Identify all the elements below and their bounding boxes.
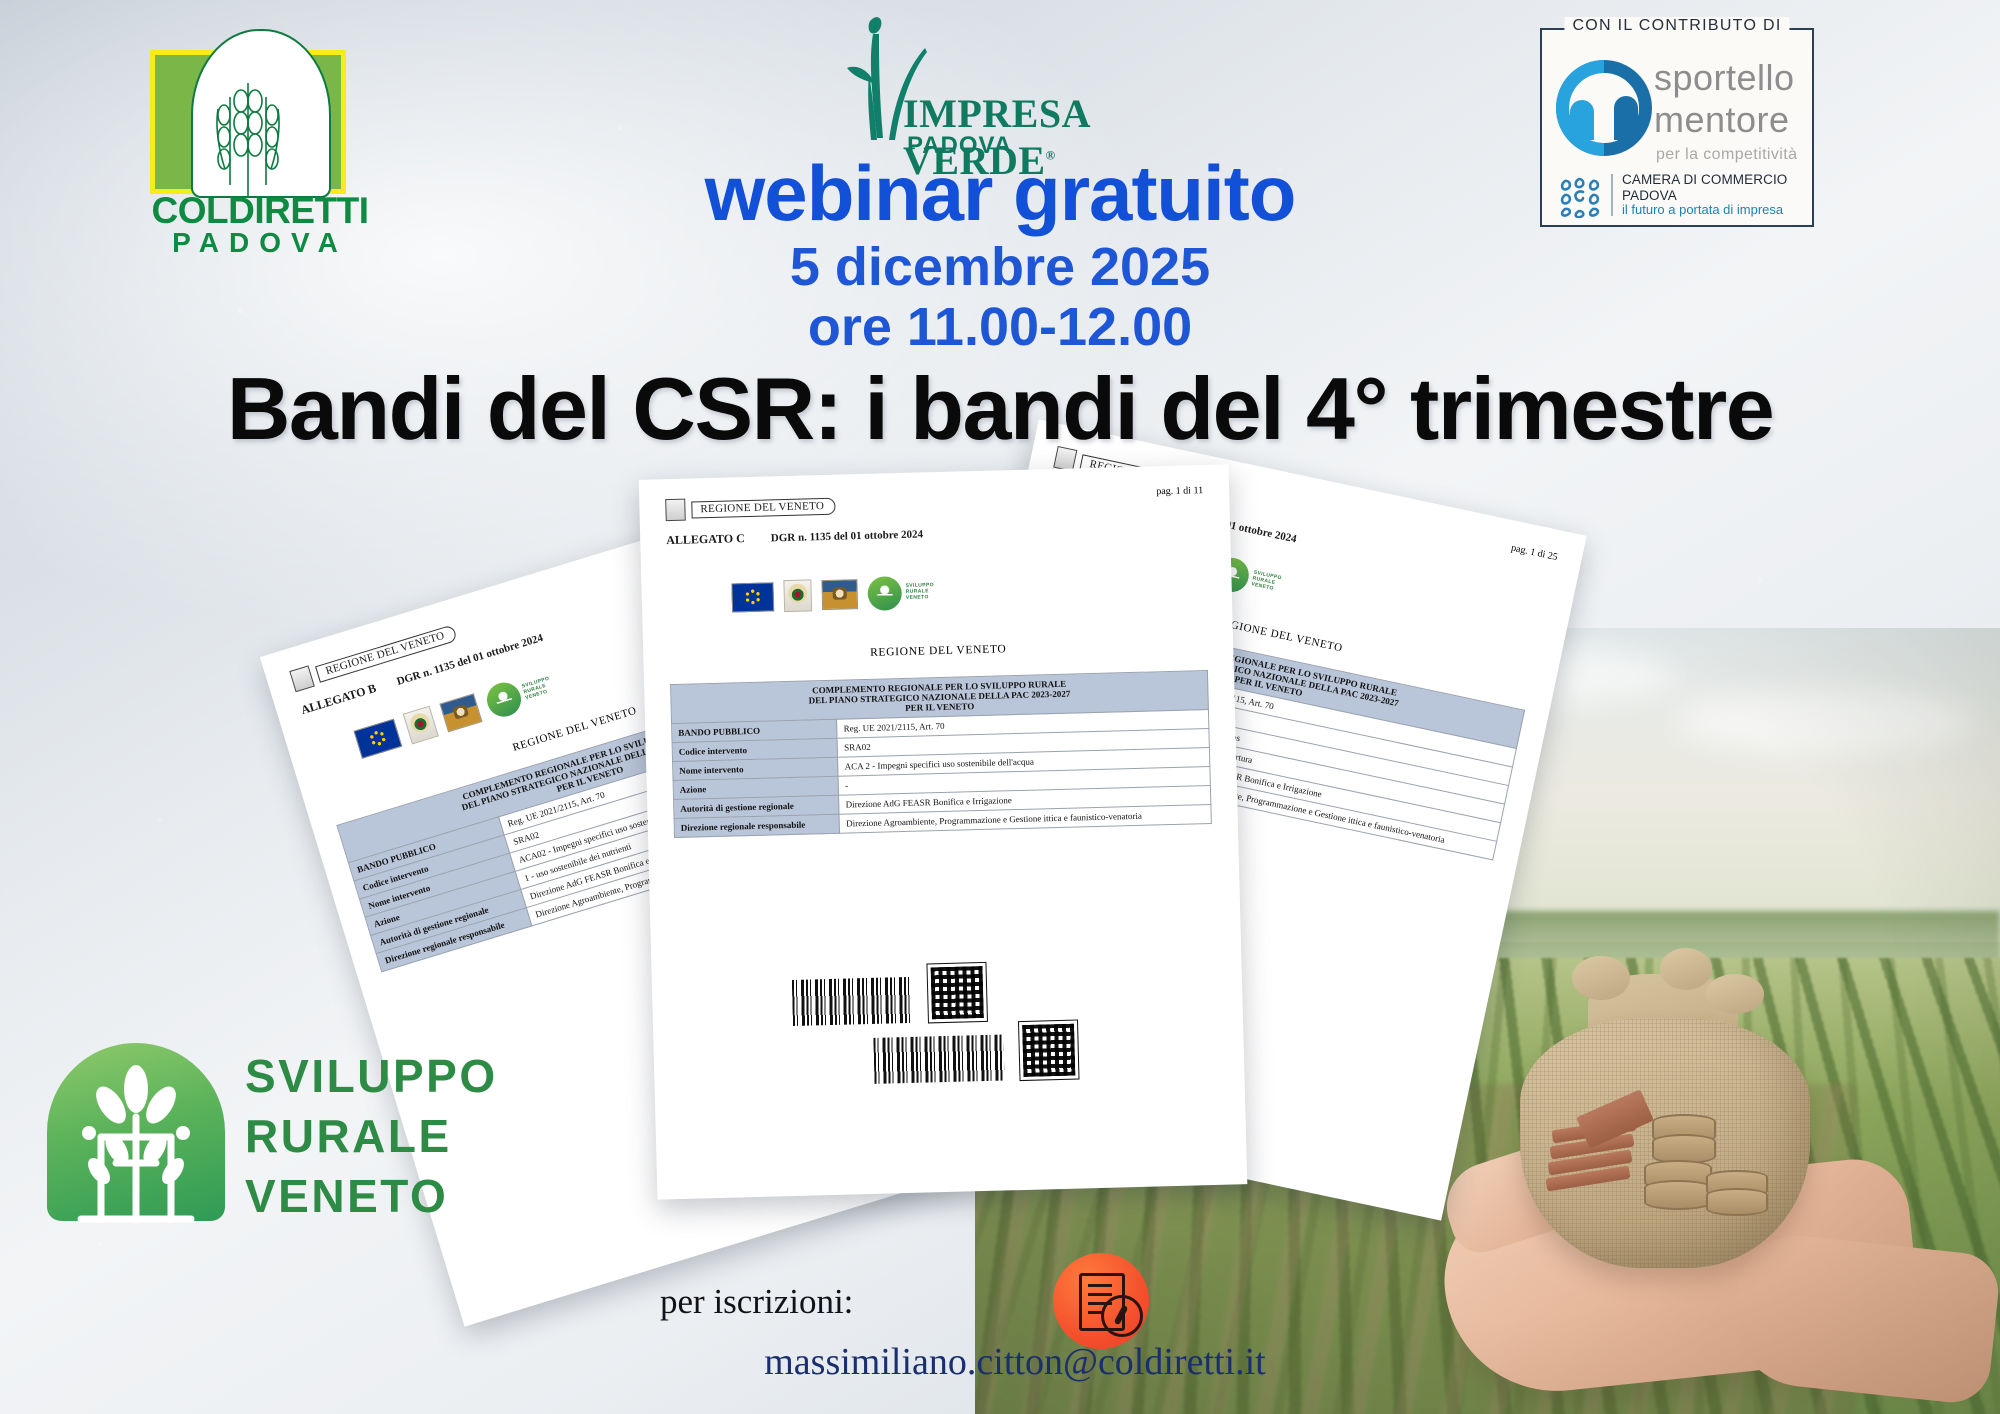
- contributor-caption: CON IL CONTRIBUTO DI: [1564, 17, 1789, 35]
- mentor-head-right: [1614, 96, 1638, 140]
- sportello-word: sportello: [1654, 60, 1795, 96]
- sviluppo-rurale-badge: [47, 1043, 225, 1221]
- srv-line1: SVILUPPO: [245, 1053, 498, 1099]
- pencil-shape: [1101, 1295, 1143, 1337]
- sviluppo-rurale-veneto-logo: SVILUPPO RURALE VENETO: [35, 1035, 455, 1235]
- srv-line3: VENETO: [245, 1173, 448, 1219]
- italy-emblem-icon: [783, 579, 812, 612]
- sviluppo-rurale-mini-icon: [867, 576, 902, 611]
- sviluppo-rurale-mini-label: SVILUPPORURALEVENETO: [906, 584, 935, 602]
- sviluppo-rurale-mini-label: SVILUPPORURALEVENETO: [1251, 571, 1282, 594]
- qr-code: [1019, 1021, 1078, 1080]
- dgr-label: DGR n. 1135 del 01 ottobre 2024: [771, 528, 924, 544]
- tree-badge-icon: [61, 1063, 211, 1223]
- document-allegato-c: REGIONE DEL VENETO ALLEGATO C DGR n. 113…: [639, 464, 1248, 1199]
- barcode: [792, 977, 913, 1026]
- barcode: [873, 1034, 1004, 1083]
- veneto-seal-icon: [289, 665, 315, 692]
- webinar-headline: webinar gratuito: [0, 148, 2000, 239]
- institutional-logos: SVILUPPORURALEVENETO: [731, 568, 1206, 614]
- page-number: pag. 1 di 11: [1156, 485, 1203, 497]
- qr-code: [927, 963, 986, 1022]
- region-heading: REGIONE DEL VENETO: [669, 638, 1207, 664]
- doc-title-line: PER IL VENETO: [905, 701, 974, 713]
- poster-canvas: REGIONE DEL VENETO ALLEGATO B DGR n. 113…: [0, 0, 2000, 1414]
- registration-label: per iscrizioni:: [660, 1282, 1360, 1322]
- sviluppo-rurale-mini-icon: [483, 678, 525, 720]
- row-label: Direzione regionale responsabile: [674, 814, 840, 837]
- document-table-c: COMPLEMENTO REGIONALE PER LO SVILUPPO RU…: [670, 670, 1212, 838]
- page-number: pag. 1 di 25: [1510, 543, 1558, 564]
- registration-email[interactable]: massimiliano.citton@coldiretti.it: [545, 1340, 1485, 1384]
- italy-emblem-icon: [403, 706, 439, 745]
- regione-pill-label: REGIONE DEL VENETO: [691, 497, 835, 518]
- eu-flag-icon: [731, 582, 774, 612]
- page-title: Bandi del CSR: i bandi del 4° trimestre: [0, 358, 2000, 460]
- sviluppo-rurale-mini-label: SVILUPPORURALEVENETO: [522, 677, 554, 702]
- srv-line2: RURALE: [245, 1113, 452, 1159]
- veneto-emblem-icon: [439, 693, 482, 732]
- signup-form-icon: [1053, 1253, 1149, 1349]
- sportello-mentore-icon: [1556, 60, 1652, 156]
- veneto-seal-icon: [665, 499, 686, 522]
- veneto-emblem-icon: [821, 579, 858, 610]
- webinar-date: 5 dicembre 2025: [0, 236, 2000, 298]
- eu-flag-icon: [353, 718, 402, 758]
- webinar-time: ore 11.00-12.00: [0, 296, 2000, 358]
- allegato-label: ALLEGATO C: [666, 531, 745, 548]
- mentore-word: mentore: [1654, 102, 1790, 138]
- mentor-head-left: [1570, 100, 1594, 140]
- impresa-verde-logo: IMPRESA VERDE® PADOVA: [815, 8, 1235, 148]
